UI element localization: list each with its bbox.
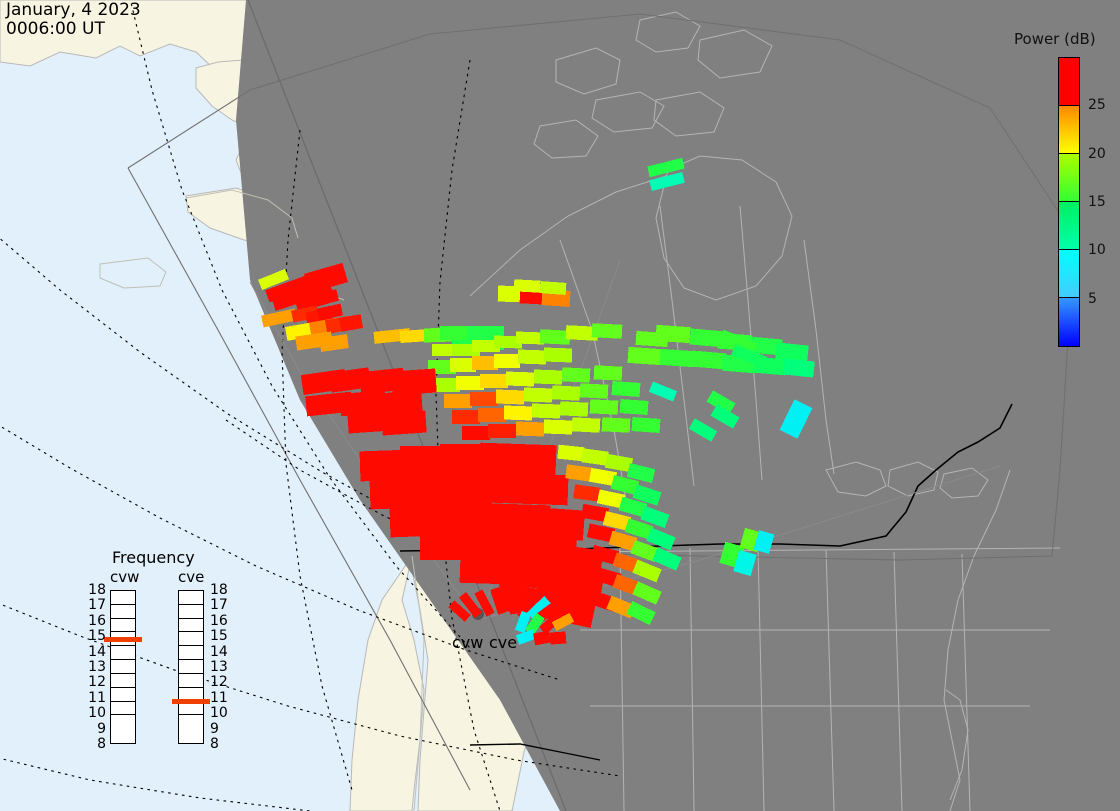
backscatter-cell[interactable] xyxy=(557,445,584,462)
frequency-scale-label: 13 xyxy=(84,659,106,675)
frequency-marker-cvw xyxy=(104,637,142,642)
frequency-scale-label: 12 xyxy=(84,674,106,690)
colorbar-tick-15: 15 xyxy=(1088,194,1106,210)
frequency-bar-tick xyxy=(111,605,135,619)
backscatter-cell[interactable] xyxy=(580,383,609,398)
backscatter-cell[interactable] xyxy=(655,325,690,343)
frequency-bar-tick xyxy=(111,646,135,660)
backscatter-cell[interactable] xyxy=(659,349,694,367)
map-site-label-cve: cve xyxy=(489,633,517,652)
near-range-beam-cell[interactable] xyxy=(550,631,567,644)
backscatter-cell[interactable] xyxy=(620,399,649,415)
backscatter-cell[interactable] xyxy=(590,399,619,414)
frequency-bar-tick xyxy=(111,674,135,688)
colorbar-tick-25: 25 xyxy=(1088,97,1106,113)
backscatter-cell[interactable] xyxy=(488,424,516,438)
backscatter-cell[interactable] xyxy=(494,354,520,368)
backscatter-cell[interactable] xyxy=(540,329,571,345)
frequency-scale-label: 10 xyxy=(84,705,106,721)
frequency-scale-label: 11 xyxy=(210,690,228,706)
frequency-scale-label: 18 xyxy=(210,582,228,598)
backscatter-cell[interactable] xyxy=(470,392,498,406)
backscatter-cell[interactable] xyxy=(440,326,466,340)
frequency-bar-tick xyxy=(179,605,203,619)
frequency-legend-title: Frequency xyxy=(112,548,195,567)
backscatter-cell[interactable] xyxy=(514,279,541,292)
frequency-bar-tick xyxy=(179,715,203,729)
backscatter-cell[interactable] xyxy=(562,367,591,382)
backscatter-cell[interactable] xyxy=(518,350,546,365)
backscatter-cell[interactable] xyxy=(452,410,480,424)
frequency-bar-tick xyxy=(111,660,135,674)
colorbar-tick-10: 10 xyxy=(1088,242,1106,258)
colorbar-segment-4 xyxy=(1059,250,1079,298)
backscatter-cell[interactable] xyxy=(627,347,662,365)
frequency-scale-label: 13 xyxy=(210,659,228,675)
frequency-bar-tick xyxy=(111,702,135,716)
frequency-bar-tick xyxy=(111,715,135,729)
frequency-marker-cve xyxy=(172,699,210,704)
backscatter-cell[interactable] xyxy=(592,323,623,339)
frequency-bar-tick xyxy=(179,674,203,688)
frequency-scale-label: 12 xyxy=(210,674,228,690)
frequency-scale-label: 10 xyxy=(210,705,228,721)
timestamp-title: January, 4 2023 0006:00 UT xyxy=(6,1,141,39)
frequency-scale-label: 9 xyxy=(84,721,106,737)
backscatter-cell[interactable] xyxy=(560,401,589,416)
backscatter-cell[interactable] xyxy=(456,376,484,390)
frequency-bar-tick xyxy=(179,591,203,605)
backscatter-cell[interactable] xyxy=(491,473,568,506)
backscatter-cell[interactable] xyxy=(552,385,581,400)
frequency-bar-tick xyxy=(179,660,203,674)
power-colorbar: Power (dB) 252015105 xyxy=(1014,30,1096,57)
frequency-scale-label: 14 xyxy=(84,644,106,660)
backscatter-cell[interactable] xyxy=(783,358,815,377)
backscatter-cell[interactable] xyxy=(381,410,426,435)
frequency-bar-tick xyxy=(179,632,203,646)
backscatter-cell[interactable] xyxy=(462,426,490,440)
superdarn-map-view: January, 4 2023 0006:00 UT Power (dB) 25… xyxy=(0,0,1120,811)
backscatter-cell[interactable] xyxy=(572,417,601,432)
title-date: January, 4 2023 xyxy=(6,1,141,20)
frequency-scale-label: 9 xyxy=(210,721,219,737)
frequency-scale-label: 8 xyxy=(210,736,219,752)
backscatter-cell[interactable] xyxy=(532,404,560,419)
frequency-scale-label: 17 xyxy=(84,597,106,613)
colorbar-title: Power (dB) xyxy=(1014,30,1096,48)
backscatter-cell[interactable] xyxy=(691,351,726,370)
frequency-bar-tick xyxy=(179,619,203,633)
backscatter-cell[interactable] xyxy=(775,342,808,361)
backscatter-cell[interactable] xyxy=(612,381,641,397)
frequency-scale-label: 16 xyxy=(210,613,228,629)
colorbar-tick-5: 5 xyxy=(1088,291,1097,307)
frequency-scale-label: 11 xyxy=(84,690,106,706)
colorbar-segment-2 xyxy=(1059,154,1079,202)
frequency-bar-cve[interactable] xyxy=(178,590,204,744)
backscatter-cell[interactable] xyxy=(632,417,661,433)
map-canvas[interactable] xyxy=(0,0,1120,811)
frequency-bar-tick xyxy=(111,619,135,633)
frequency-column-label-cvw: cvw xyxy=(110,568,139,586)
colorbar-tick-20: 20 xyxy=(1088,146,1106,162)
backscatter-cell[interactable] xyxy=(524,388,552,403)
frequency-scale-label: 16 xyxy=(84,613,106,629)
backscatter-cell[interactable] xyxy=(544,348,572,363)
frequency-column-label-cve: cve xyxy=(178,568,204,586)
frequency-scale-label: 8 xyxy=(84,736,106,752)
backscatter-cell[interactable] xyxy=(444,394,472,408)
colorbar-segment-3 xyxy=(1059,202,1079,250)
backscatter-cell[interactable] xyxy=(504,406,532,421)
backscatter-cell[interactable] xyxy=(478,408,506,422)
colorbar-segment-1 xyxy=(1059,106,1079,154)
colorbar-gradient[interactable] xyxy=(1058,57,1080,347)
frequency-scale-label: 15 xyxy=(210,628,228,644)
backscatter-cell[interactable] xyxy=(496,390,524,405)
title-time: 0006:00 UT xyxy=(6,20,141,39)
frequency-bar-tick xyxy=(111,688,135,702)
colorbar-segment-0 xyxy=(1059,58,1079,106)
frequency-scale-label: 18 xyxy=(84,582,106,598)
frequency-scale-label: 15 xyxy=(84,628,106,644)
backscatter-cell[interactable] xyxy=(544,420,572,435)
backscatter-cell[interactable] xyxy=(594,365,623,380)
frequency-bar-tick xyxy=(179,646,203,660)
backscatter-cell[interactable] xyxy=(480,374,508,388)
backscatter-cell[interactable] xyxy=(479,443,556,476)
frequency-bar-tick xyxy=(111,591,135,605)
map-site-label-cvw: cvw xyxy=(452,633,483,652)
backscatter-cell[interactable] xyxy=(540,281,567,295)
frequency-bar-cvw[interactable] xyxy=(110,590,136,744)
frequency-scale-label: 14 xyxy=(210,644,228,660)
backscatter-cell[interactable] xyxy=(534,370,562,385)
frequency-scale-label: 17 xyxy=(210,597,228,613)
backscatter-cell[interactable] xyxy=(506,372,534,387)
backscatter-cell[interactable] xyxy=(602,417,631,432)
colorbar-segment-5 xyxy=(1059,298,1079,346)
backscatter-cell[interactable] xyxy=(516,422,544,437)
